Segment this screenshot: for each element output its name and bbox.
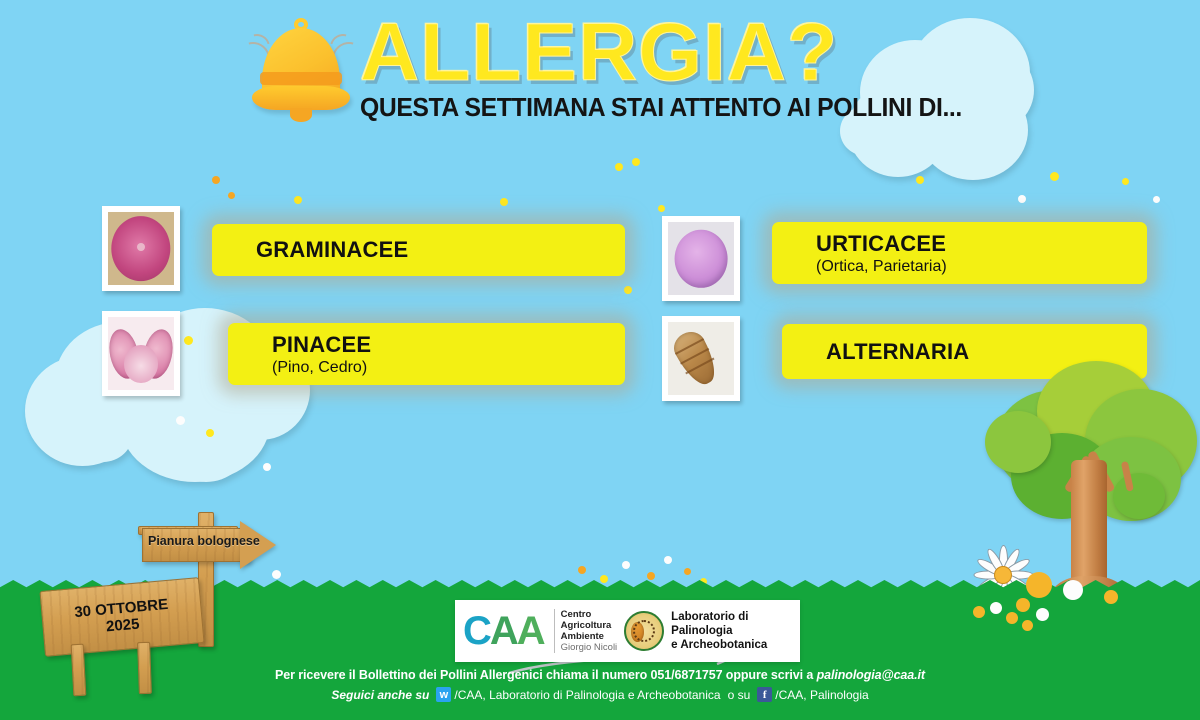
palinologia-badge-icon: [624, 611, 664, 651]
pollen-dot: [294, 196, 302, 204]
bell-band: [260, 72, 342, 85]
pollen-dot: [1006, 612, 1018, 624]
pollen-dot: [632, 158, 640, 166]
pollen-species: (Ortica, Parietaria): [816, 258, 1147, 276]
pollen-dot: [600, 575, 608, 583]
pollen-dot: [1022, 620, 1033, 631]
signpost-direction-label: Pianura bolognese: [148, 534, 278, 548]
pollen-dot: [212, 176, 220, 184]
footer-twitter-handle[interactable]: /CAA, Laboratorio di Palinologia e Arche…: [454, 688, 720, 702]
twitter-bird-icon[interactable]: w: [436, 687, 451, 702]
footer-social-line: Seguici anche su w /CAA, Laboratorio di …: [0, 687, 1200, 702]
signpost: Pianura bolognese 30 OTTOBRE 2025: [30, 512, 320, 692]
pollen-dot: [1018, 195, 1026, 203]
page-subtitle: QUESTA SETTIMANA STAI ATTENTO AI POLLINI…: [360, 94, 981, 123]
pollen-name: URTICACEE: [816, 231, 1147, 257]
pollen-dot: [1050, 172, 1059, 181]
pollen-pinacee-micrograph: [102, 311, 180, 396]
pollen-dot: [684, 568, 691, 575]
pollen-label-graminacee: GRAMINACEE: [212, 224, 625, 276]
pollen-species: (Pino, Cedro): [272, 359, 625, 377]
caa-line-2: Agricoltura: [561, 620, 618, 631]
pollen-dot: [1016, 598, 1030, 612]
pollen-dot: [622, 561, 630, 569]
tree-foliage: [1113, 473, 1165, 519]
pollen-dot: [916, 176, 924, 184]
pollen-graminacee-micrograph: [102, 206, 180, 291]
caa-line-1: Centro: [561, 609, 618, 620]
footer-contact-line: Per ricevere il Bollettino dei Pollini A…: [0, 668, 1200, 682]
caa-line-3: Ambiente: [561, 631, 618, 642]
footer: Per ricevere il Bollettino dei Pollini A…: [0, 668, 1200, 702]
pollen-urticacee-micrograph: [662, 216, 740, 301]
caa-letter-a2: A: [517, 611, 544, 651]
title-block: ALLERGIA? QUESTA SETTIMANA STAI ATTENTO …: [360, 14, 1000, 123]
pollen-label-urticacee: URTICACEE (Ortica, Parietaria): [772, 222, 1147, 284]
tree-foliage: [985, 411, 1051, 473]
palinologia-logo-text: Laboratorio di Palinologia e Archeobotan…: [671, 610, 767, 652]
pollen-dot: [206, 429, 214, 437]
footer-social-prefix: Seguici anche su: [331, 688, 429, 702]
pollen-dot: [1036, 608, 1049, 621]
pollen-dot: [990, 602, 1002, 614]
pollen-dot: [1063, 580, 1083, 600]
pollen-dot: [263, 463, 271, 471]
bell-icon: [238, 14, 358, 124]
facebook-f-icon[interactable]: f: [757, 687, 772, 702]
caa-logo-text: Centro Agricoltura Ambiente Giorgio Nico…: [554, 609, 618, 654]
bell-skirt: [252, 86, 350, 110]
caa-logo: C A A: [463, 611, 544, 651]
caa-letter-a1: A: [490, 611, 517, 651]
poster-canvas: ALLERGIA? QUESTA SETTIMANA STAI ATTENTO …: [0, 0, 1200, 720]
pollen-dot: [1026, 572, 1052, 598]
logo-bar: C A A Centro Agricoltura Ambiente Giorgi…: [455, 600, 800, 662]
pollen-dot: [228, 192, 235, 199]
pollen-dot: [1122, 178, 1129, 185]
footer-social-mid: o su: [728, 688, 751, 702]
pollen-dot: [624, 286, 632, 294]
page-title: ALLERGIA?: [360, 14, 1000, 92]
signpost-date-line2: 2025: [105, 616, 140, 635]
pollen-dot: [176, 416, 185, 425]
pollen-name: GRAMINACEE: [256, 237, 625, 263]
pollen-dot: [1104, 590, 1118, 604]
pollen-label-pinacee: PINACEE (Pino, Cedro): [228, 323, 625, 385]
signpost-date-plank: 30 OTTOBRE 2025: [39, 577, 204, 657]
footer-contact-text: Per ricevere il Bollettino dei Pollini A…: [275, 668, 817, 682]
bell-clapper: [290, 108, 312, 122]
spore-alternaria-micrograph: [662, 316, 740, 401]
daisy-center: [994, 566, 1012, 584]
palinologia-line-3: e Archeobotanica: [671, 638, 767, 652]
pollen-dot: [658, 205, 665, 212]
pollen-dot: [1153, 196, 1160, 203]
pollen-dot: [647, 572, 655, 580]
palinologia-line-1: Laboratorio di: [671, 610, 767, 624]
palinologia-line-2: Palinologia: [671, 624, 767, 638]
footer-email[interactable]: palinologia@caa.it: [817, 668, 925, 682]
pollen-dot: [615, 163, 623, 171]
footer-facebook-handle[interactable]: /CAA, Palinologia: [775, 688, 868, 702]
caa-letter-c: C: [463, 611, 490, 651]
pollen-dot: [664, 556, 672, 564]
pollen-dot: [184, 336, 193, 345]
pollen-dot: [973, 606, 985, 618]
pollen-dot: [500, 198, 508, 206]
signpost-arrow: Pianura bolognese: [142, 528, 272, 562]
pollen-name: PINACEE: [272, 332, 625, 358]
pollen-dot: [578, 566, 586, 574]
caa-line-4: Giorgio Nicoli: [561, 642, 618, 653]
